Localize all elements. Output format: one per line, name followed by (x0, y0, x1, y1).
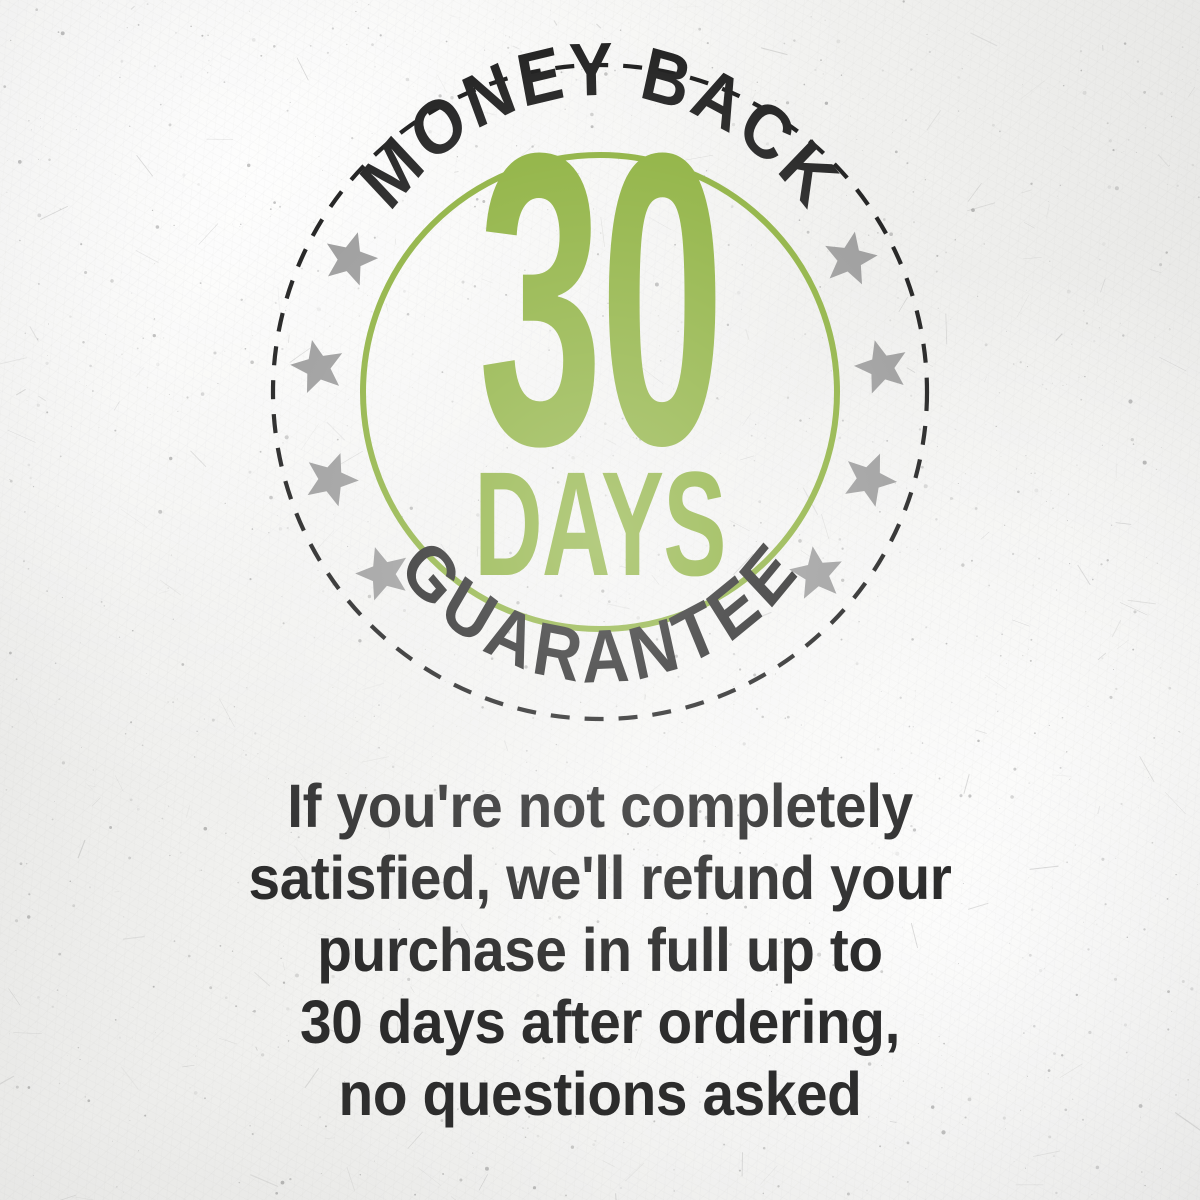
badge-star (327, 232, 378, 285)
badge-unit-label: DAYS (474, 441, 725, 607)
guarantee-banner: MONEY BACK GUARANTEE 30 DAYS If you're n… (0, 0, 1200, 1200)
guarantee-line-3: purchase in full up to (42, 914, 1158, 986)
guarantee-line-1: If you're not completely (42, 770, 1158, 842)
badge-star (290, 340, 342, 393)
badge-star (825, 232, 877, 285)
badge-star (854, 340, 905, 393)
money-back-guarantee-badge: MONEY BACK GUARANTEE 30 DAYS (0, 0, 1200, 760)
guarantee-line-2: satisfied, we'll refund your (42, 842, 1158, 914)
badge-star (845, 454, 897, 507)
guarantee-line-5: no questions asked (42, 1058, 1158, 1130)
badge-star (308, 453, 359, 506)
guarantee-line-4: 30 days after ordering, (42, 986, 1158, 1058)
guarantee-policy-text: If you're not completely satisfied, we'l… (42, 770, 1158, 1130)
